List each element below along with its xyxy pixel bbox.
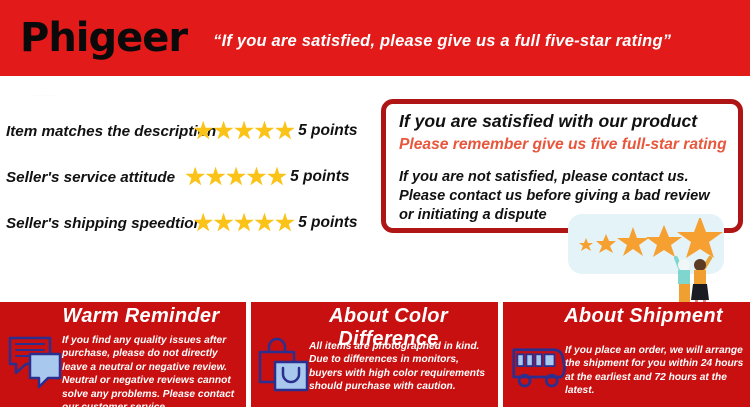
star-rating: ★ ★ ★ ★ ★ xyxy=(184,165,286,190)
header-tagline: “If you are satisfied, please give us a … xyxy=(213,32,671,51)
ratings-section: ............ Item matches the descriptio… xyxy=(0,82,372,282)
star-icon: ★ xyxy=(274,211,296,236)
bus-icon xyxy=(511,338,569,396)
star-icon: ★ xyxy=(266,165,288,190)
panel-body: If you find any quality issues after pur… xyxy=(62,334,242,407)
notice-headline: If you are satisfied with our product xyxy=(399,111,697,132)
star-icon: ★ xyxy=(233,119,255,144)
star-icon: ★ xyxy=(204,165,226,190)
star-icon: ★ xyxy=(253,119,275,144)
rating-points: 5 points xyxy=(298,122,357,140)
star-illustration xyxy=(566,212,738,304)
notice-body-line: If you are not satisfied, please contact… xyxy=(399,168,710,187)
shopping-bag-icon xyxy=(255,336,313,394)
watermark-text: ............ xyxy=(30,92,59,98)
promo-banner: Phigeer “If you are satisfied, please gi… xyxy=(0,0,750,407)
star-icon: ★ xyxy=(212,211,234,236)
rating-points: 5 points xyxy=(290,168,349,186)
star-icon xyxy=(617,227,649,256)
rating-label: Seller's service attitude xyxy=(6,169,184,186)
brand-logo: Phigeer xyxy=(20,18,187,58)
notice-subheadline: Please remember give us five full-star r… xyxy=(399,136,727,154)
panel-color-difference: About Color Difference All items are pho… xyxy=(251,302,498,407)
info-panels: Warm Reminder If you find any quality is… xyxy=(0,302,750,407)
rating-label: Seller's shipping speedtion xyxy=(6,215,192,232)
star-icon: ★ xyxy=(274,119,296,144)
star-icon xyxy=(596,234,616,253)
star-icon: ★ xyxy=(253,211,275,236)
notice-body-line: Please contact us before giving a bad re… xyxy=(399,187,710,206)
header-bar: Phigeer “If you are satisfied, please gi… xyxy=(0,0,750,76)
star-rating: ★ ★ ★ ★ ★ xyxy=(192,211,294,236)
star-icon: ★ xyxy=(225,165,247,190)
rating-label: Item matches the description xyxy=(6,123,192,140)
star-icon: ★ xyxy=(245,165,267,190)
star-icon xyxy=(579,238,593,251)
panel-shipment: About Shipment If you place an order, we… xyxy=(503,302,750,407)
panel-title: About Shipment xyxy=(503,305,750,328)
star-icon: ★ xyxy=(192,211,214,236)
star-icon: ★ xyxy=(192,119,214,144)
star-icon: ★ xyxy=(184,165,206,190)
star-icon: ★ xyxy=(212,119,234,144)
panel-body: If you place an order, we will arrange t… xyxy=(565,344,749,398)
star-rating: ★ ★ ★ ★ ★ xyxy=(192,119,294,144)
panel-title: Warm Reminder xyxy=(0,305,246,328)
speech-bubbles-icon xyxy=(8,334,66,392)
rating-row: Item matches the description ★ ★ ★ ★ ★ 5… xyxy=(6,116,372,146)
star-icon: ★ xyxy=(233,211,255,236)
rating-points: 5 points xyxy=(298,214,357,232)
people-figures xyxy=(664,252,734,304)
rating-row: Seller's service attitude ★ ★ ★ ★ ★ 5 po… xyxy=(6,162,372,192)
panel-warm-reminder: Warm Reminder If you find any quality is… xyxy=(0,302,246,407)
panel-body: All items are photographed in kind. Due … xyxy=(309,340,495,394)
rating-row: Seller's shipping speedtion ★ ★ ★ ★ ★ 5 … xyxy=(6,208,372,238)
